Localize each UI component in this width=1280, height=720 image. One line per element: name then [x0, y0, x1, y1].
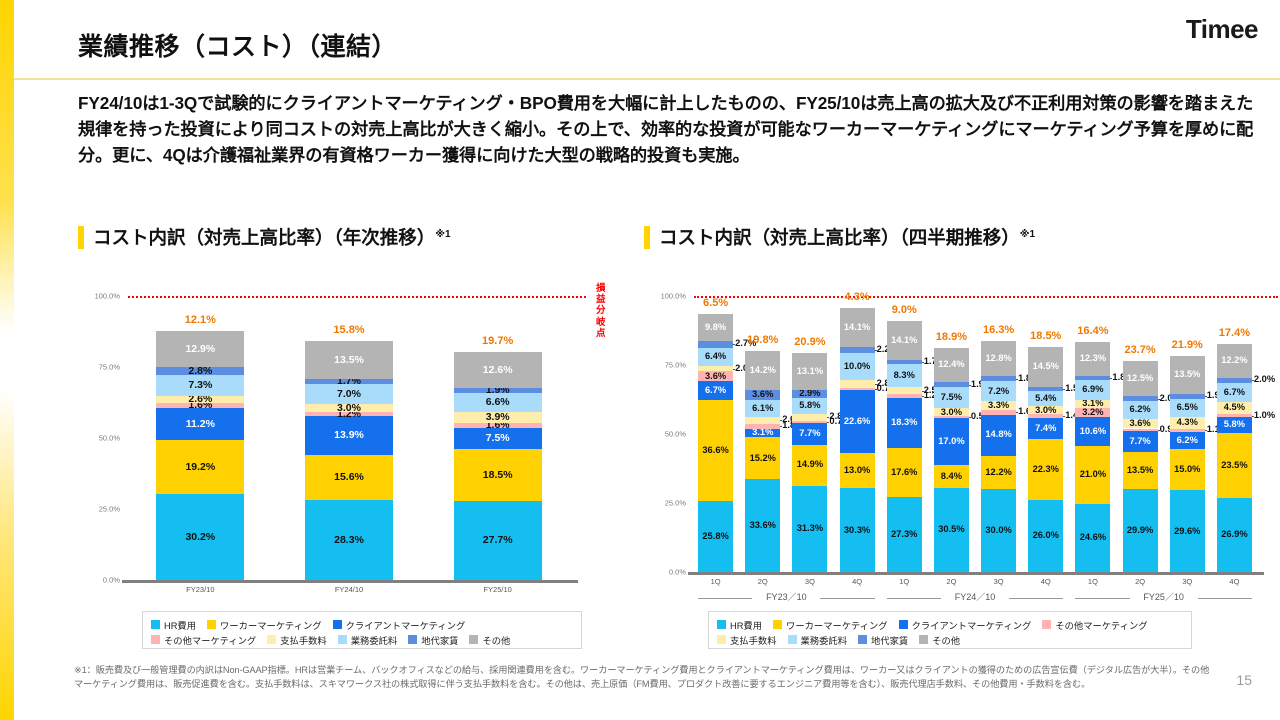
x-axis-tick-label: 4Q [852, 577, 862, 586]
bar-segment-value: 6.7% [1224, 388, 1245, 397]
legend-color-swatch [151, 620, 160, 629]
breakeven-label: 損益分岐点 [596, 283, 606, 339]
bar-segment[interactable]: 5.4% [1028, 391, 1063, 406]
bar-segment[interactable]: 11.2% [156, 408, 244, 440]
bar-segment-value: 30.5% [938, 525, 964, 534]
bar-segment[interactable]: 12.2% [1217, 344, 1252, 378]
y-axis-tick-label: 25.0% [99, 505, 120, 514]
bar-segment[interactable]: 14.9% [792, 445, 827, 486]
bar-total-label: 19.7% [482, 335, 513, 347]
bar-segment-value: 12.5% [1127, 374, 1153, 383]
bar-segment[interactable]: 17.6% [887, 448, 922, 497]
bar-segment[interactable]: 5.8% [792, 398, 827, 414]
legend-item[interactable]: 地代家賃 [408, 632, 458, 647]
x-axis-group-rule [698, 598, 752, 599]
bar-segment[interactable] [745, 417, 780, 424]
bar-segment[interactable]: 13.9% [305, 416, 393, 455]
bar-segment[interactable]: 6.7% [698, 381, 733, 399]
bar-segment-value: 2.6% [188, 394, 212, 405]
bar-segment-value: 6.2% [1129, 405, 1150, 414]
bar-segment[interactable]: 18.3% [887, 398, 922, 449]
bar-segment-value: 4.3% [1177, 418, 1198, 427]
legend-item[interactable]: ワーカーマーケティング [773, 617, 888, 632]
bar-segment-value: 3.6% [1129, 419, 1150, 428]
bar-segment-value: 3.6% [705, 372, 726, 381]
legend-label: ワーカーマーケティング [220, 618, 322, 632]
bar-total-label: 23.7% [1124, 344, 1155, 356]
bar-segment[interactable]: 7.2% [981, 381, 1016, 401]
x-axis-tick-label: 1Q [1088, 577, 1098, 586]
x-axis-tick-label: FY25/10 [483, 585, 511, 594]
bar-segment[interactable]: 3.1% [1075, 400, 1110, 409]
stacked-bar[interactable]: 29.6%15.0%6.2%4.3%6.5%13.5% [1170, 296, 1205, 572]
bar-segment-value: 5.8% [1224, 420, 1245, 429]
bar-segment-value: 14.2% [750, 366, 776, 375]
bar-segment[interactable]: 3.2% [1075, 408, 1110, 417]
bar-segment-value: 7.3% [188, 380, 212, 391]
bar-segment-value: 12.9% [185, 344, 215, 355]
legend-label: 業務委託料 [801, 633, 848, 647]
bar-segment[interactable]: 26.0% [1028, 500, 1063, 572]
bar-segment[interactable] [698, 366, 733, 372]
bar-segment-callout-value: 2.0% [1254, 374, 1275, 384]
stacked-bar[interactable]: 25.8%36.6%6.7%3.6%6.4%9.8% [698, 296, 733, 572]
legend-item[interactable]: 業務委託料 [338, 632, 398, 647]
stacked-bar[interactable]: 27.3%17.6%18.3%8.3%14.1% [887, 296, 922, 572]
bar-segment-value: 12.3% [1080, 354, 1106, 363]
bar-segment-value: 33.6% [750, 521, 776, 530]
x-axis-tick-label: 3Q [994, 577, 1004, 586]
bar-segment[interactable] [1170, 429, 1205, 432]
legend-item[interactable]: 地代家賃 [858, 632, 908, 647]
bar-segment[interactable]: 29.6% [1170, 490, 1205, 572]
bar-segment-value: 12.2% [985, 468, 1011, 477]
bar-segment[interactable] [792, 421, 827, 423]
bar-segment-value: 7.5% [941, 393, 962, 402]
bar-segment-value: 25.8% [702, 532, 728, 541]
legend-item[interactable]: その他マーケティング [151, 632, 256, 647]
bar-total-label: 19.8% [747, 334, 778, 346]
bar-segment[interactable]: 12.5% [1123, 361, 1158, 396]
bar-segment[interactable]: 6.2% [1123, 401, 1158, 418]
bar-segment-value: 3.1% [1082, 399, 1103, 408]
legend-item[interactable]: ワーカーマーケティング [207, 617, 322, 632]
bar-segment[interactable]: 30.5% [934, 488, 969, 572]
bar-segment[interactable] [1028, 387, 1063, 391]
bar-segment[interactable]: 3.6% [698, 371, 733, 381]
x-axis-line [122, 580, 578, 583]
bar-total-label: 6.5% [703, 297, 728, 309]
bar-segment-value: 10.0% [844, 362, 870, 371]
bar-segment[interactable]: 6.2% [1170, 432, 1205, 449]
bar-segment[interactable]: 30.3% [840, 488, 875, 572]
legend-color-swatch [207, 620, 216, 629]
bar-segment[interactable]: 1.6% [454, 423, 542, 428]
bar-segment[interactable]: 36.6% [698, 400, 733, 501]
legend-color-swatch [919, 635, 928, 644]
bar-segment-value: 6.1% [752, 404, 773, 413]
bar-segment[interactable]: 8.3% [887, 364, 922, 387]
bar-segment[interactable] [1123, 396, 1158, 402]
lead-paragraph: FY24/10は1-3Qで試験的にクライアントマーケティング・BPO費用を大幅に… [78, 90, 1260, 168]
bar-segment[interactable]: 1.7% [305, 379, 393, 384]
bar-segment-value: 29.9% [1127, 526, 1153, 535]
legend-label: 業務委託料 [351, 633, 398, 647]
bar-segment[interactable]: 14.5% [1028, 347, 1063, 387]
bar-segment-value: 22.6% [844, 417, 870, 426]
section-heading-quarterly: コスト内訳（対売上高比率）（四半期推移）※1 [644, 224, 1035, 250]
bar-segment[interactable]: 26.9% [1217, 498, 1252, 572]
x-axis-tick-label: 1Q [711, 577, 721, 586]
x-axis-line [688, 572, 1264, 575]
bar-segment[interactable]: 28.3% [305, 500, 393, 580]
bar-segment-value: 12.2% [1221, 356, 1247, 365]
bar-segment-value: 3.0% [1035, 406, 1056, 415]
legend-color-swatch [788, 635, 797, 644]
bar-segment[interactable]: 15.6% [305, 455, 393, 499]
bar-segment-value: 24.6% [1080, 533, 1106, 542]
x-axis-tick-label: 4Q [1041, 577, 1051, 586]
legend-color-swatch [338, 635, 347, 644]
stacked-bar[interactable]: 30.3%13.0%22.6%10.0%14.1% [840, 296, 875, 572]
bar-segment-value: 13.0% [844, 466, 870, 475]
bar-segment[interactable] [840, 380, 875, 388]
bar-segment-value: 30.0% [985, 526, 1011, 535]
bar-segment[interactable]: 14.1% [840, 308, 875, 347]
bar-segment[interactable]: 31.3% [792, 486, 827, 572]
bar-segment[interactable]: 19.2% [156, 440, 244, 495]
bar-segment[interactable]: 17.0% [934, 418, 969, 465]
bar-segment-value: 7.2% [988, 387, 1009, 396]
legend-item[interactable]: 業務委託料 [788, 632, 848, 647]
bar-segment-value: 15.6% [334, 472, 364, 483]
bar-segment[interactable]: 13.0% [840, 453, 875, 489]
page-title: 業績推移（コスト）（連結） [78, 27, 397, 63]
bar-segment-value: 23.5% [1221, 461, 1247, 470]
bar-segment-value: 3.9% [486, 412, 510, 423]
legend-item[interactable]: その他 [919, 632, 960, 647]
bar-segment-value: 17.6% [891, 468, 917, 477]
bar-segment[interactable] [934, 382, 969, 387]
legend-color-swatch [899, 620, 908, 629]
bar-segment[interactable] [840, 347, 875, 353]
bar-segment-value: 9.8% [705, 323, 726, 332]
bar-segment[interactable]: 12.2% [981, 456, 1016, 490]
bar-segment[interactable] [981, 376, 1016, 381]
bar-segment-value: 8.3% [894, 371, 915, 380]
x-axis-group-rule [887, 598, 941, 599]
accent-bar-icon [644, 226, 650, 249]
legend-label: クライアントマーケティング [912, 618, 1032, 632]
x-axis-tick-label: 3Q [1182, 577, 1192, 586]
legend-item[interactable]: HR費用 [717, 617, 762, 632]
bar-segment[interactable]: 3.6% [1123, 419, 1158, 429]
bar-segment[interactable]: 7.5% [934, 387, 969, 408]
bar-segment-value: 6.5% [1177, 403, 1198, 412]
bar-segment[interactable]: 7.3% [156, 375, 244, 396]
bar-segment[interactable]: 2.9% [792, 390, 827, 398]
legend-color-swatch [333, 620, 342, 629]
stacked-bar[interactable]: 30.2%19.2%11.2%1.6%2.6%7.3%2.8%12.9% [156, 296, 244, 580]
bar-segment[interactable] [745, 424, 780, 429]
bar-segment[interactable]: 6.1% [745, 400, 780, 417]
annual-cost-breakdown-chart: 0.0%25.0%50.0%75.0%100.0%損益分岐点30.2%19.2%… [78, 262, 578, 612]
bar-segment-value: 30.3% [844, 526, 870, 535]
y-axis-tick-label: 100.0% [95, 292, 120, 301]
bar-segment-value: 14.5% [1033, 362, 1059, 371]
x-axis-tick-label: 2Q [758, 577, 768, 586]
bar-segment[interactable]: 13.5% [305, 341, 393, 379]
bar-segment[interactable]: 27.3% [887, 497, 922, 572]
bar-segment[interactable]: 14.2% [745, 351, 780, 390]
legend-color-swatch [773, 620, 782, 629]
bar-segment-value: 13.5% [1174, 370, 1200, 379]
bar-segment-value: 22.3% [1033, 465, 1059, 474]
bar-segment-value: 7.5% [486, 433, 510, 444]
bar-segment[interactable]: 30.0% [981, 489, 1016, 572]
bar-segment[interactable]: 6.5% [1170, 399, 1205, 417]
bar-segment-value: 12.8% [985, 354, 1011, 363]
bar-segment[interactable]: 22.3% [1028, 439, 1063, 501]
bar-segment[interactable]: 3.6% [745, 390, 780, 400]
x-axis-tick-label: 2Q [1135, 577, 1145, 586]
bar-segment-value: 14.1% [891, 336, 917, 345]
bar-segment[interactable]: 3.0% [305, 404, 393, 413]
bar-segment[interactable] [1028, 414, 1063, 418]
bar-segment-value: 17.0% [938, 437, 964, 446]
bar-segment-value: 5.8% [799, 401, 820, 410]
x-axis-tick-label: 2Q [946, 577, 956, 586]
legend-color-swatch [717, 635, 726, 644]
bar-segment-value: 13.5% [1127, 466, 1153, 475]
bar-segment-callout-value: 1.0% [1254, 410, 1275, 420]
bar-segment-value: 14.9% [797, 460, 823, 469]
annual-chart-legend: HR費用ワーカーマーケティングクライアントマーケティングその他マーケティング支払… [142, 611, 582, 649]
bar-segment[interactable]: 21.0% [1075, 446, 1110, 504]
bar-total-label: 18.5% [1030, 330, 1061, 342]
legend-label: HR費用 [730, 618, 762, 632]
bar-segment[interactable]: 13.1% [792, 353, 827, 389]
bar-segment-value: 7.4% [1035, 424, 1056, 433]
bar-segment-value: 27.3% [891, 530, 917, 539]
bar-segment-value: 13.9% [334, 430, 364, 441]
y-axis-tick-label: 25.0% [665, 499, 686, 508]
legend-label: その他マーケティング [1055, 618, 1147, 632]
bar-segment-value: 3.0% [941, 408, 962, 417]
bar-total-label: 17.4% [1219, 327, 1250, 339]
bar-segment[interactable]: 22.6% [840, 390, 875, 452]
bar-segment[interactable]: 7.0% [305, 384, 393, 404]
y-axis-tick-label: 0.0% [669, 568, 686, 577]
bar-segment-value: 5.4% [1035, 394, 1056, 403]
bar-segment[interactable]: 14.8% [981, 415, 1016, 456]
bar-segment[interactable]: 3.1% [745, 429, 780, 438]
bar-segment-value: 18.5% [483, 470, 513, 481]
bar-segment[interactable]: 18.5% [454, 449, 542, 502]
bar-segment-value: 4.5% [1224, 403, 1245, 412]
bar-segment-value: 3.3% [988, 401, 1009, 410]
bar-segment[interactable] [1123, 429, 1158, 431]
legend-item[interactable]: その他マーケティング [1042, 617, 1147, 632]
bar-segment[interactable]: 12.3% [1075, 342, 1110, 376]
bar-segment[interactable]: 33.6% [745, 479, 780, 572]
bar-segment-value: 13.5% [334, 355, 364, 366]
x-axis-group-rule [1075, 598, 1129, 599]
x-axis-group-label: FY23／10 [766, 590, 807, 603]
bar-segment[interactable]: 4.3% [1170, 417, 1205, 429]
bar-segment[interactable] [792, 414, 827, 422]
bar-segment-value: 6.9% [1082, 385, 1103, 394]
bar-segment-value: 7.7% [799, 429, 820, 438]
bar-segment[interactable]: 23.5% [1217, 433, 1252, 498]
bar-segment[interactable]: 6.7% [1217, 383, 1252, 401]
bar-segment[interactable]: 13.5% [1170, 356, 1205, 393]
bar-segment[interactable]: 3.0% [934, 408, 969, 416]
bar-segment[interactable]: 2.6% [156, 396, 244, 403]
bar-segment-value: 6.4% [705, 352, 726, 361]
bar-segment-value: 2.8% [188, 366, 212, 377]
bar-segment[interactable]: 10.0% [840, 353, 875, 381]
bar-segment[interactable]: 12.8% [981, 341, 1016, 376]
bar-segment[interactable]: 7.7% [792, 423, 827, 444]
legend-item[interactable]: クライアントマーケティング [899, 617, 1032, 632]
bar-segment[interactable] [981, 410, 1016, 414]
legend-label: その他 [932, 633, 960, 647]
bar-segment[interactable] [887, 360, 922, 365]
bar-segment-value: 3.2% [1082, 408, 1103, 417]
legend-color-swatch [267, 635, 276, 644]
bar-segment[interactable]: 14.1% [887, 321, 922, 360]
footnote-text: ※1：販売費及び一般管理費の内訳はNon-GAAP指標。HRは営業チーム、バック… [74, 663, 1214, 692]
breakeven-label-line1: 損益 [596, 283, 606, 305]
bar-segment[interactable] [840, 388, 875, 390]
bar-total-label: 20.9% [794, 336, 825, 348]
page-number: 15 [1236, 672, 1252, 688]
bar-segment[interactable]: 9.8% [698, 314, 733, 341]
bar-segment[interactable]: 12.6% [454, 352, 542, 388]
bar-segment[interactable]: 1.9% [454, 388, 542, 393]
bar-segment[interactable]: 10.6% [1075, 417, 1110, 446]
bar-segment[interactable]: 29.9% [1123, 489, 1158, 572]
bar-segment-value: 27.7% [483, 535, 513, 546]
bar-segment-value: 13.1% [797, 367, 823, 376]
stacked-bar[interactable]: 29.9%13.5%7.7%3.6%6.2%12.5% [1123, 296, 1158, 572]
bar-segment-value: 6.2% [1177, 436, 1198, 445]
bar-segment[interactable]: 25.8% [698, 501, 733, 572]
bar-segment[interactable]: 7.4% [1028, 418, 1063, 438]
legend-item[interactable]: HR費用 [151, 617, 196, 632]
bar-total-label: 15.8% [333, 324, 364, 336]
bar-segment[interactable] [1217, 414, 1252, 417]
bar-segment-value: 2.9% [799, 389, 820, 398]
bar-segment-value: 10.6% [1080, 427, 1106, 436]
bar-segment[interactable]: 4.5% [1217, 402, 1252, 414]
legend-label: クライアントマーケティング [346, 618, 466, 632]
bar-segment-value: 11.2% [186, 419, 215, 430]
bar-segment[interactable]: 7.7% [1123, 431, 1158, 452]
bar-total-label: 21.9% [1172, 339, 1203, 351]
bar-segment-value: 12.6% [483, 365, 513, 376]
bar-segment-value: 14.8% [985, 430, 1011, 439]
accent-bar-icon [78, 226, 84, 249]
legend-label: 支払手数料 [730, 633, 777, 647]
bar-segment[interactable]: 30.2% [156, 494, 244, 580]
bar-segment-value: 26.0% [1033, 531, 1059, 540]
bar-segment-value: 12.4% [938, 360, 964, 369]
bar-segment-value: 8.4% [941, 472, 962, 481]
bar-total-label: 12.1% [185, 314, 216, 326]
bar-segment-value: 19.2% [185, 462, 215, 473]
stacked-bar[interactable]: 28.3%15.6%13.9%1.2%3.0%7.0%1.7%13.5% [305, 296, 393, 580]
legend-color-swatch [858, 635, 867, 644]
legend-label: 支払手数料 [280, 633, 327, 647]
bar-segment[interactable] [887, 394, 922, 397]
stacked-bar[interactable]: 30.0%12.2%14.8%3.3%7.2%12.8% [981, 296, 1016, 572]
legend-label: HR費用 [164, 618, 196, 632]
bar-segment[interactable]: 5.8% [1217, 417, 1252, 433]
legend-color-swatch [717, 620, 726, 629]
legend-label: その他 [482, 633, 510, 647]
bar-segment[interactable]: 6.4% [698, 348, 733, 366]
bar-segment-value: 3.0% [337, 403, 361, 414]
bar-segment[interactable]: 3.9% [454, 412, 542, 423]
legend-item[interactable]: 支払手数料 [267, 632, 327, 647]
bar-segment[interactable]: 6.9% [1075, 380, 1110, 399]
x-axis-group-label: FY25／10 [1143, 590, 1184, 603]
legend-item[interactable]: クライアントマーケティング [333, 617, 466, 632]
bar-segment-value: 15.2% [750, 454, 776, 463]
bar-segment[interactable]: 13.5% [1123, 452, 1158, 489]
bar-segment[interactable]: 3.0% [1028, 406, 1063, 414]
bar-segment[interactable]: 2.8% [156, 367, 244, 375]
bar-segment[interactable] [887, 387, 922, 394]
bar-segment[interactable] [698, 341, 733, 348]
bar-segment[interactable]: 24.6% [1075, 504, 1110, 572]
legend-item[interactable]: 支払手数料 [717, 632, 777, 647]
legend-color-swatch [151, 635, 160, 644]
bar-segment[interactable]: 8.4% [934, 465, 969, 488]
title-divider [14, 78, 1280, 80]
y-axis-tick-label: 0.0% [103, 576, 120, 585]
bar-segment[interactable] [1075, 376, 1110, 381]
bar-segment-value: 21.0% [1080, 470, 1106, 479]
x-axis-group-rule [1198, 598, 1252, 599]
bar-total-label: 4.3% [845, 291, 870, 303]
bar-segment-value: 7.7% [1129, 437, 1150, 446]
section-heading-annual: コスト内訳（対売上高比率）（年次推移）※1 [78, 224, 451, 250]
bar-segment[interactable]: 12.4% [934, 348, 969, 382]
bar-segment[interactable]: 12.9% [156, 331, 244, 368]
bar-segment-value: 30.2% [185, 532, 215, 543]
stacked-bar[interactable]: 24.6%21.0%10.6%3.2%3.1%6.9%12.3% [1075, 296, 1110, 572]
bar-segment[interactable]: 15.2% [745, 437, 780, 479]
x-axis-tick-label: 3Q [805, 577, 815, 586]
bar-segment-value: 31.3% [797, 524, 823, 533]
x-axis-tick-label: 1Q [899, 577, 909, 586]
bar-segment-value: 29.6% [1174, 527, 1200, 536]
legend-label: 地代家賃 [871, 633, 908, 647]
bar-segment[interactable]: 15.0% [1170, 449, 1205, 490]
bar-segment-value: 3.1% [752, 428, 773, 437]
bar-segment[interactable]: 27.7% [454, 501, 542, 580]
bar-segment[interactable] [1217, 378, 1252, 384]
bar-segment-value: 6.7% [705, 386, 726, 395]
bar-segment[interactable]: 3.3% [981, 401, 1016, 410]
bar-segment-value: 15.0% [1174, 465, 1200, 474]
legend-label: その他マーケティング [164, 633, 256, 647]
legend-item[interactable]: その他 [469, 632, 510, 647]
bar-segment[interactable] [1170, 394, 1205, 399]
